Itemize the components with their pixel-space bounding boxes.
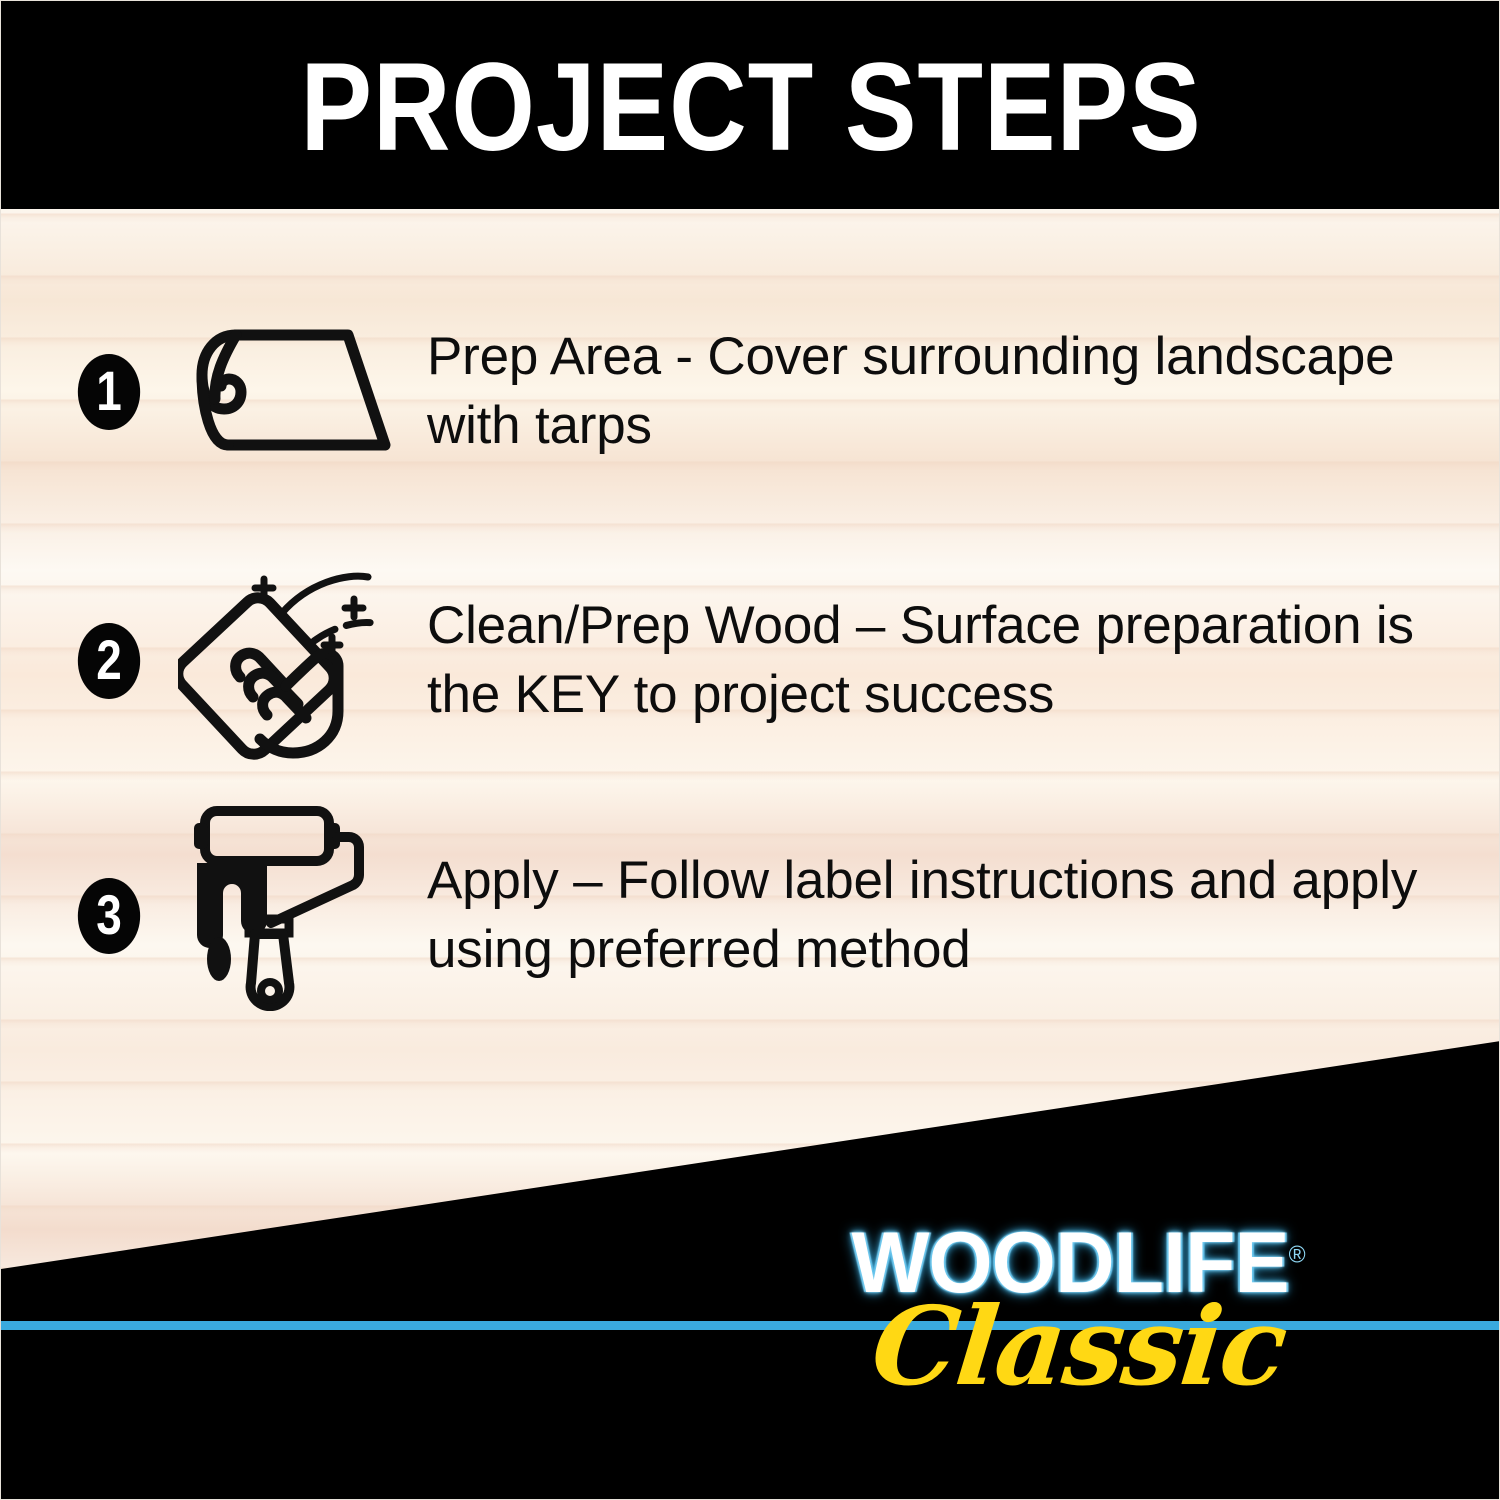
step-number-badge: 2 <box>78 623 140 699</box>
step-description: Clean/Prep Wood – Surface preparation is… <box>427 592 1437 730</box>
sub-brand-name: Classic <box>868 1293 1291 1401</box>
brand-logo: WOODLIFE® Classic <box>839 1223 1319 1401</box>
infographic-canvas: PROJECT STEPS 1 Prep Area - Cover surrou… <box>0 0 1500 1500</box>
hand-wiping-cloth-icon <box>171 561 401 761</box>
step-description: Apply – Follow label instructions and ap… <box>427 847 1437 985</box>
step-number-badge: 3 <box>78 878 140 954</box>
registered-trademark-icon: ® <box>1289 1241 1306 1268</box>
header-band: PROJECT STEPS <box>1 1 1500 209</box>
step-number-badge: 1 <box>78 354 140 430</box>
step-row: 2 <box>71 561 1437 761</box>
tarp-roll-icon <box>171 317 401 467</box>
step-row: 1 Prep Area - Cover surrounding landscap… <box>71 317 1437 467</box>
paint-roller-icon <box>171 801 401 1031</box>
step-description: Prep Area - Cover surrounding landscape … <box>427 323 1437 461</box>
page-title: PROJECT STEPS <box>300 45 1201 170</box>
step-row: 3 Apply <box>71 801 1437 1031</box>
